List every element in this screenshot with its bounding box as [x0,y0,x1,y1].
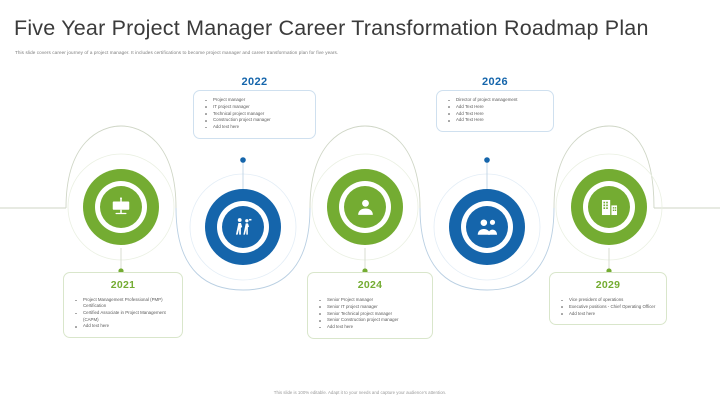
person-walking-icon [226,210,260,244]
milestone-card-2029[interactable]: 2029 Vice president of operations Execut… [549,272,667,325]
milestone-list-2021: Project Management Professional (PMP) Ce… [72,297,174,330]
milestone-list-2029: Vice president of operations Executive p… [558,297,658,317]
list-item: Add text here [316,324,424,330]
year-label-2026: 2026 [436,76,554,88]
milestone-card-2022[interactable]: Project manager IT project manager Techn… [193,90,316,139]
page-title: Five Year Project Manager Career Transfo… [14,16,649,41]
list-item: Construction project manager [202,117,307,123]
milestone-card-2024[interactable]: 2024 Senior Project manager Senior IT pr… [307,272,433,339]
header-divider [0,8,720,9]
timeline-node-1[interactable] [83,169,159,245]
list-item: Executive positions - Chief Operating Of… [558,304,658,310]
list-item: Vice president of operations [558,297,658,303]
list-item: Add text here [558,311,658,317]
timeline-node-3[interactable] [327,169,403,245]
team-group-icon [470,210,504,244]
list-item: Technical project manager [202,111,307,117]
year-label-2024: 2024 [316,279,424,291]
list-item: Add Text Here [445,111,545,117]
timeline-node-5[interactable] [571,169,647,245]
milestone-card-2021[interactable]: 2021 Project Management Professional (PM… [63,272,183,338]
list-item: Add text here [72,323,174,329]
list-item: Add Text Here [445,117,545,123]
slide-canvas: Five Year Project Manager Career Transfo… [0,0,720,404]
timeline-node-2[interactable] [205,189,281,265]
footer-note: This slide is 100% editable. Adapt it to… [0,390,720,395]
milestone-card-2026[interactable]: Director of project management Add Text … [436,90,554,132]
list-item: Certified Associate in Project Managemen… [72,310,174,323]
year-label-2022: 2022 [193,76,316,88]
presentation-board-icon [104,190,138,224]
list-item: Senior Construction project manager [316,317,424,323]
timeline-node-4[interactable] [449,189,525,265]
milestone-list-2022: Project manager IT project manager Techn… [202,97,307,131]
person-avatar-icon [348,190,382,224]
list-item: Add text here [202,124,307,130]
year-label-2029: 2029 [558,279,658,291]
list-item: IT project manager [202,104,307,110]
milestone-list-2024: Senior Project manager Senior IT project… [316,297,424,331]
page-subtitle: This slide covers career journey of a pr… [15,50,338,55]
list-item: Senior Technical project manager [316,311,424,317]
milestone-list-2026: Director of project management Add Text … [445,97,545,124]
list-item: Project Management Professional (PMP) Ce… [72,297,174,310]
list-item: Senior IT project manager [316,304,424,310]
year-label-2021: 2021 [72,279,174,291]
list-item: Director of project management [445,97,545,103]
list-item: Project manager [202,97,307,103]
list-item: Add Text Here [445,104,545,110]
office-building-icon [592,190,626,224]
list-item: Senior Project manager [316,297,424,303]
